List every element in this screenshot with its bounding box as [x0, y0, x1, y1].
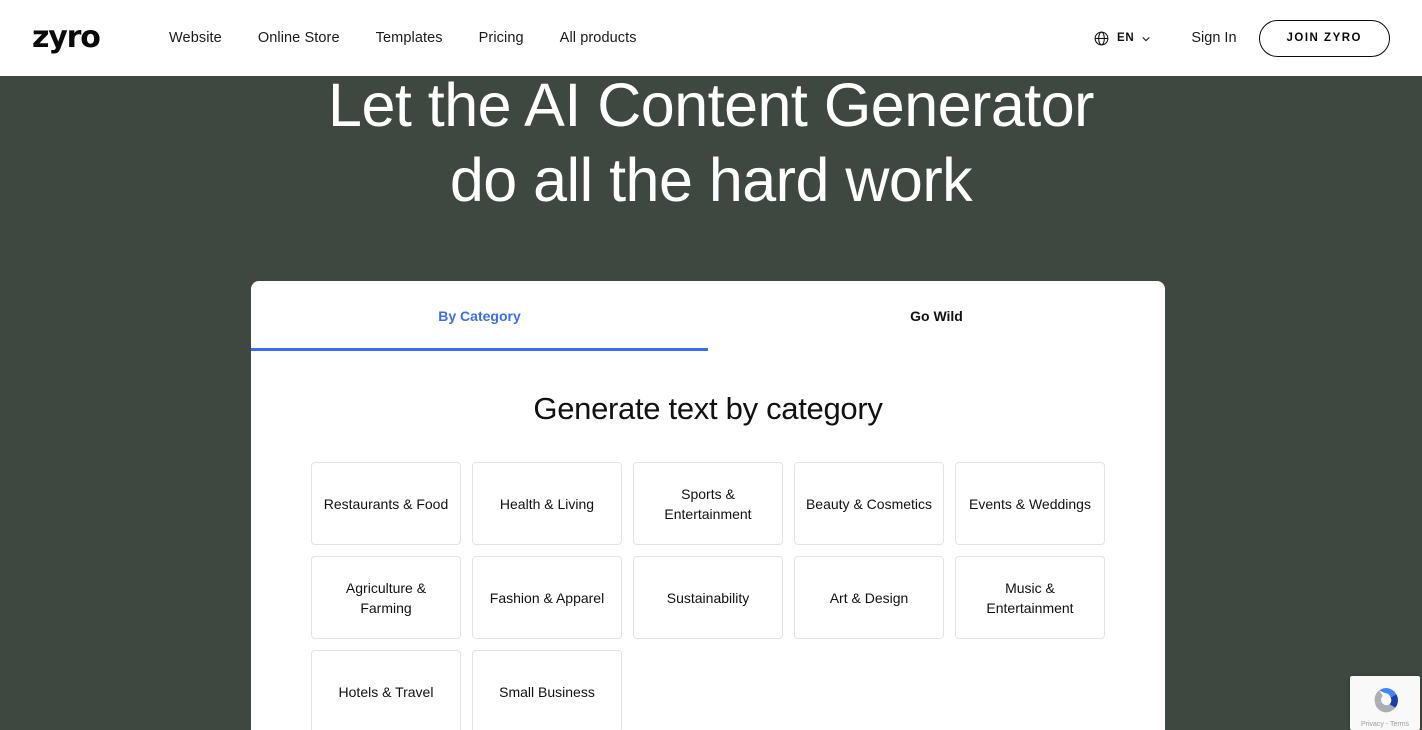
recaptcha-badge[interactable]: Privacy - Terms [1350, 676, 1420, 730]
recaptcha-label: Privacy - Terms [1361, 721, 1409, 728]
category-sustainability[interactable]: Sustainability [633, 556, 783, 639]
hero-section: Let the AI Content Generator do all the … [0, 76, 1422, 730]
header-actions: EN Sign In JOIN ZYRO [1089, 20, 1390, 57]
chevron-down-icon [1141, 33, 1151, 44]
hero-title: Let the AI Content Generator do all the … [0, 76, 1422, 218]
sign-in-link[interactable]: Sign In [1191, 30, 1236, 46]
site-header: zyro Website Online Store Templates Pric… [0, 0, 1422, 76]
card-tabs: By Category Go Wild [251, 281, 1165, 351]
globe-icon [1093, 30, 1110, 47]
hero-title-line-1: Let the AI Content Generator [0, 76, 1422, 143]
category-events-weddings[interactable]: Events & Weddings [955, 462, 1105, 545]
language-code: EN [1117, 32, 1134, 44]
category-art-design[interactable]: Art & Design [794, 556, 944, 639]
nav-item-all-products[interactable]: All products [542, 30, 655, 46]
nav-item-templates[interactable]: Templates [358, 30, 461, 46]
category-agriculture-farming[interactable]: Agriculture & Farming [311, 556, 461, 639]
nav-item-online-store[interactable]: Online Store [240, 30, 358, 46]
category-grid: Restaurants & Food Health & Living Sport… [311, 462, 1105, 730]
category-beauty-cosmetics[interactable]: Beauty & Cosmetics [794, 462, 944, 545]
category-fashion-apparel[interactable]: Fashion & Apparel [472, 556, 622, 639]
category-hotels-travel[interactable]: Hotels & Travel [311, 650, 461, 730]
recaptcha-icon [1367, 683, 1403, 719]
ai-content-generator-card: By Category Go Wild Generate text by cat… [251, 281, 1165, 730]
hero-title-line-2: do all the hard work [0, 143, 1422, 218]
zyro-logo[interactable]: zyro [32, 23, 104, 53]
language-switcher[interactable]: EN [1089, 24, 1155, 53]
card-heading: Generate text by category [251, 391, 1165, 427]
tab-by-category[interactable]: By Category [251, 281, 708, 351]
main-nav: Website Online Store Templates Pricing A… [151, 30, 655, 46]
category-sports-entertainment[interactable]: Sports & Entertainment [633, 462, 783, 545]
nav-item-pricing[interactable]: Pricing [461, 30, 542, 46]
category-small-business[interactable]: Small Business [472, 650, 622, 730]
logo-text: zyro [32, 23, 100, 53]
tab-go-wild[interactable]: Go Wild [708, 281, 1165, 351]
category-health-living[interactable]: Health & Living [472, 462, 622, 545]
join-zyro-button[interactable]: JOIN ZYRO [1259, 20, 1390, 57]
nav-item-website[interactable]: Website [151, 30, 240, 46]
category-music-entertainment[interactable]: Music & Entertainment [955, 556, 1105, 639]
category-restaurants-food[interactable]: Restaurants & Food [311, 462, 461, 545]
